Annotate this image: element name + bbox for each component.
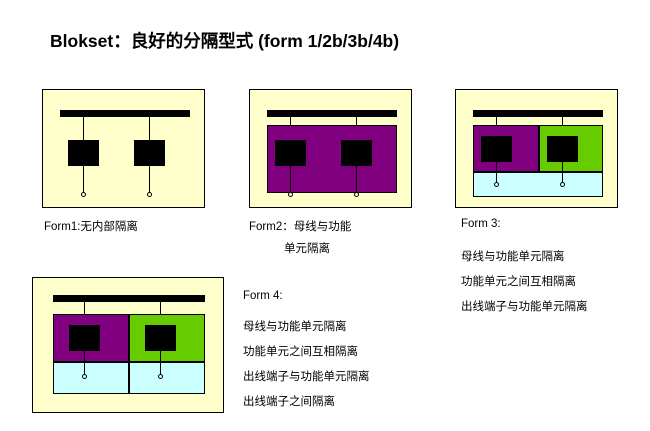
form3-busbar <box>473 110 603 117</box>
form4-terminal-compartment-left <box>53 362 129 394</box>
form4-outgoing-2 <box>160 351 161 374</box>
form1-caption-line-1: Form1:无内部隔离 <box>44 218 138 234</box>
form2-caption-line-2: 单元隔离 <box>284 240 330 256</box>
form4-caption-line-4: 出线端子与功能单元隔离 <box>243 368 370 384</box>
form4-caption-line-5: 出线端子之间隔离 <box>243 393 335 409</box>
form3-outgoing-1 <box>496 162 497 182</box>
form4-busbar <box>53 295 205 302</box>
form1-functional-unit-2 <box>134 140 165 166</box>
form2-outgoing-2 <box>356 166 357 192</box>
form2-terminal-2 <box>354 192 359 197</box>
form1-drop-1 <box>83 117 84 140</box>
form4-terminal-compartment-right <box>129 362 205 394</box>
form2-caption-line-1: Form2：母线与功能 <box>249 218 351 234</box>
form1-busbar <box>60 110 190 117</box>
slide-canvas: Blokset：良好的分隔型式 (form 1/2b/3b/4b) Form1:… <box>0 0 650 431</box>
form4-drop-1 <box>84 302 85 314</box>
form3-drop-1 <box>496 117 497 125</box>
form3-drop-2 <box>562 117 563 125</box>
form4-outgoing-1 <box>84 351 85 374</box>
form2-drop-2 <box>356 117 357 125</box>
form3-outgoing-2 <box>562 162 563 182</box>
form1-terminal-2 <box>147 192 152 197</box>
form2-functional-unit-1 <box>275 140 306 166</box>
form2-outgoing-1 <box>290 166 291 192</box>
form4-functional-unit-2 <box>145 325 176 351</box>
form4-drop-2 <box>160 302 161 314</box>
form1-terminal-1 <box>81 192 86 197</box>
form3-caption-line-4: 出线端子与功能单元隔离 <box>461 298 588 314</box>
form4-caption-line-1: Form 4: <box>243 290 283 302</box>
page-title: Blokset：良好的分隔型式 (form 1/2b/3b/4b) <box>50 28 399 53</box>
form1-outgoing-2 <box>149 166 150 192</box>
form4-terminal-1 <box>82 374 87 379</box>
form3-functional-unit-1 <box>481 136 512 162</box>
form1-functional-unit-1 <box>68 140 99 166</box>
form3-terminal-2 <box>560 182 565 187</box>
form3-terminal-compartment <box>473 172 603 197</box>
form3-functional-unit-2 <box>547 136 578 162</box>
form3-caption-line-1: Form 3: <box>461 218 501 230</box>
form4-caption-line-2: 母线与功能单元隔离 <box>243 318 347 334</box>
form3-caption-line-2: 母线与功能单元隔离 <box>461 248 565 264</box>
form2-drop-1 <box>290 117 291 125</box>
form2-busbar <box>267 110 397 117</box>
form4-functional-unit-1 <box>69 325 100 351</box>
form1-outgoing-1 <box>83 166 84 192</box>
form4-caption-line-3: 功能单元之间互相隔离 <box>243 343 358 359</box>
form4-terminal-2 <box>158 374 163 379</box>
form3-caption-line-3: 功能单元之间互相隔离 <box>461 273 576 289</box>
form2-terminal-1 <box>288 192 293 197</box>
form1-enclosure <box>42 89 205 208</box>
form1-drop-2 <box>149 117 150 140</box>
form2-functional-unit-2 <box>341 140 372 166</box>
form3-terminal-1 <box>494 182 499 187</box>
